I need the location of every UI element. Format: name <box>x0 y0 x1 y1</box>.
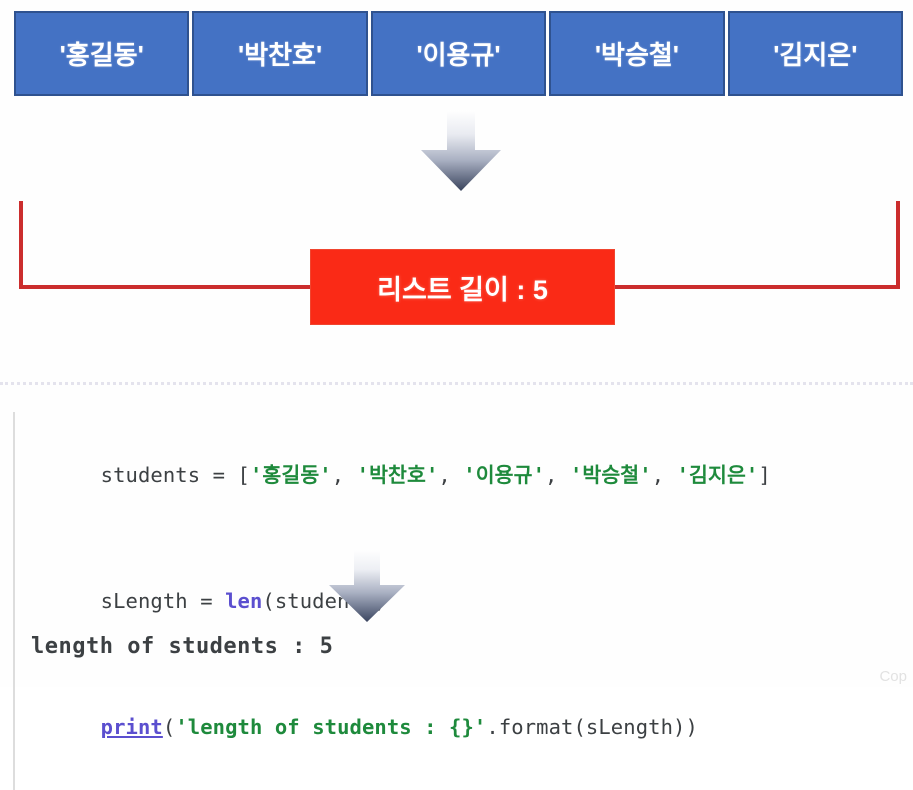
code-token-string: '이용규' <box>463 463 545 487</box>
down-arrow-icon <box>325 549 409 623</box>
list-element-box: '박승철' <box>549 11 724 96</box>
code-token: sLength = <box>101 589 225 613</box>
code-line-1: students = ['홍길동', '박찬호', '이용규', '박승철', … <box>26 412 903 538</box>
list-element-label: '박찬호' <box>238 35 322 72</box>
code-token: ( <box>163 715 175 739</box>
list-element-box: '김지은' <box>728 11 903 96</box>
code-token: , <box>652 463 677 487</box>
result-label: 리스트 길이 : 5 <box>377 268 548 307</box>
code-token: ] <box>758 463 770 487</box>
code-line-3: print('length of students : {}'.format(s… <box>26 664 903 790</box>
list-element-label: '홍길동' <box>60 35 144 72</box>
list-element-box: '홍길동' <box>14 11 189 96</box>
list-elements-row: '홍길동' '박찬호' '이용규' '박승철' '김지은' <box>14 11 903 96</box>
code-token: , <box>545 463 570 487</box>
output-text: length of students : 5 <box>31 634 333 659</box>
code-token-function: print <box>101 715 163 739</box>
list-element-label: '이용규' <box>416 35 500 72</box>
list-element-label: '김지은' <box>773 35 857 72</box>
code-token-string: '박승철' <box>570 463 652 487</box>
down-arrow-icon <box>417 110 505 192</box>
code-token: .format(sLength)) <box>486 715 698 739</box>
list-element-box: '이용규' <box>371 11 546 96</box>
result-box: 리스트 길이 : 5 <box>310 249 615 325</box>
code-token: , <box>332 463 357 487</box>
output-block: length of students : 5 <box>13 620 903 672</box>
code-token-string: '홍길동' <box>250 463 332 487</box>
code-token: students = [ <box>101 463 250 487</box>
slide-canvas: '홍길동' '박찬호' '이용규' '박승철' '김지은' 리스트 길 <box>0 0 913 687</box>
list-element-box: '박찬호' <box>192 11 367 96</box>
section-divider <box>0 382 913 385</box>
code-token-string: 'length of students : {}' <box>175 715 486 739</box>
code-token: , <box>438 463 463 487</box>
code-token-builtin: len <box>225 589 262 613</box>
code-block: students = ['홍길동', '박찬호', '이용규', '박승철', … <box>13 412 903 790</box>
code-token-string: '김지은' <box>677 463 759 487</box>
list-element-label: '박승철' <box>595 35 679 72</box>
watermark-text: Cop <box>879 668 907 685</box>
code-token-string: '박찬호' <box>357 463 439 487</box>
